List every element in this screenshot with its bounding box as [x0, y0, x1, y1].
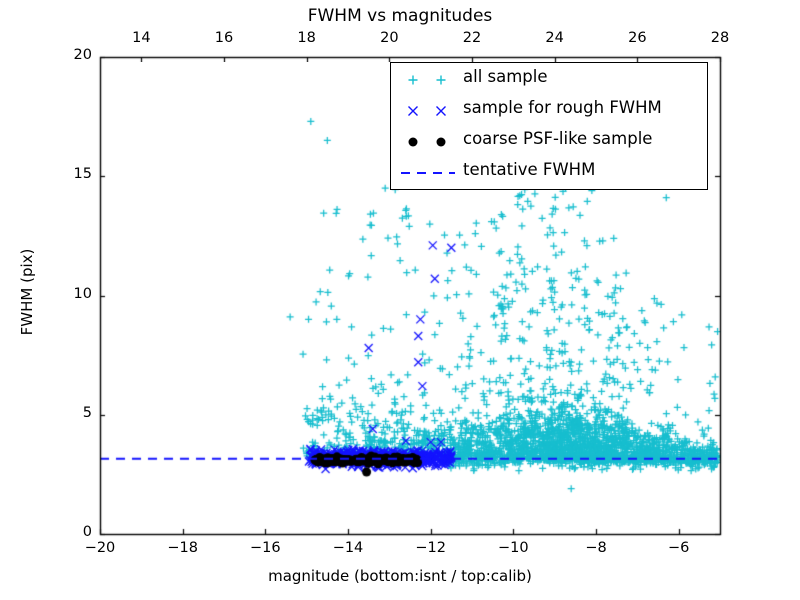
legend-item: tentative FWHM: [391, 157, 707, 189]
y-tick-label: 0: [42, 524, 92, 540]
legend-marker-plus-icon: [395, 64, 461, 96]
x-tick-label-top: 14: [116, 30, 166, 46]
legend-item: coarse PSF-like sample: [391, 126, 707, 158]
x-tick-label-bottom: −12: [406, 540, 456, 556]
x-tick-label-top: 26: [612, 30, 662, 46]
y-axis-label: FWHM (pix): [18, 212, 36, 372]
x-tick-label-top: 18: [282, 30, 332, 46]
y-tick-label: 15: [42, 166, 92, 182]
x-tick-label-bottom: −6: [654, 540, 704, 556]
legend-label: tentative FWHM: [463, 160, 595, 179]
chart-title: FWHM vs magnitudes: [0, 6, 800, 26]
y-tick-label: 20: [42, 47, 92, 63]
x-axis-label: magnitude (bottom:isnt / top:calib): [0, 567, 800, 585]
legend-label: sample for rough FWHM: [463, 98, 662, 117]
legend-label: coarse PSF-like sample: [463, 129, 652, 148]
y-tick-label: 5: [42, 405, 92, 421]
x-tick-label-bottom: −10: [488, 540, 538, 556]
legend-marker-dashed-line-icon: [395, 157, 461, 189]
x-tick-label-bottom: −16: [240, 540, 290, 556]
legend-label: all sample: [463, 67, 548, 86]
legend-marker-o-icon: [395, 126, 461, 158]
x-tick-label-top: 28: [695, 30, 745, 46]
legend-marker-x-icon: [395, 95, 461, 127]
chart-legend: all samplesample for rough FWHMcoarse PS…: [390, 62, 708, 190]
legend-item: sample for rough FWHM: [391, 95, 707, 127]
x-tick-label-bottom: −14: [323, 540, 373, 556]
x-tick-label-top: 20: [364, 30, 414, 46]
x-tick-label-top: 16: [199, 30, 249, 46]
x-tick-label-bottom: −18: [158, 540, 208, 556]
x-tick-label-bottom: −8: [571, 540, 621, 556]
x-tick-label-bottom: −20: [75, 540, 125, 556]
chart-figure: FWHM vs magnitudes magnitude (bottom:isn…: [0, 0, 800, 600]
x-tick-label-top: 24: [530, 30, 580, 46]
legend-item: all sample: [391, 64, 707, 96]
x-tick-label-top: 22: [447, 30, 497, 46]
y-tick-label: 10: [42, 286, 92, 302]
